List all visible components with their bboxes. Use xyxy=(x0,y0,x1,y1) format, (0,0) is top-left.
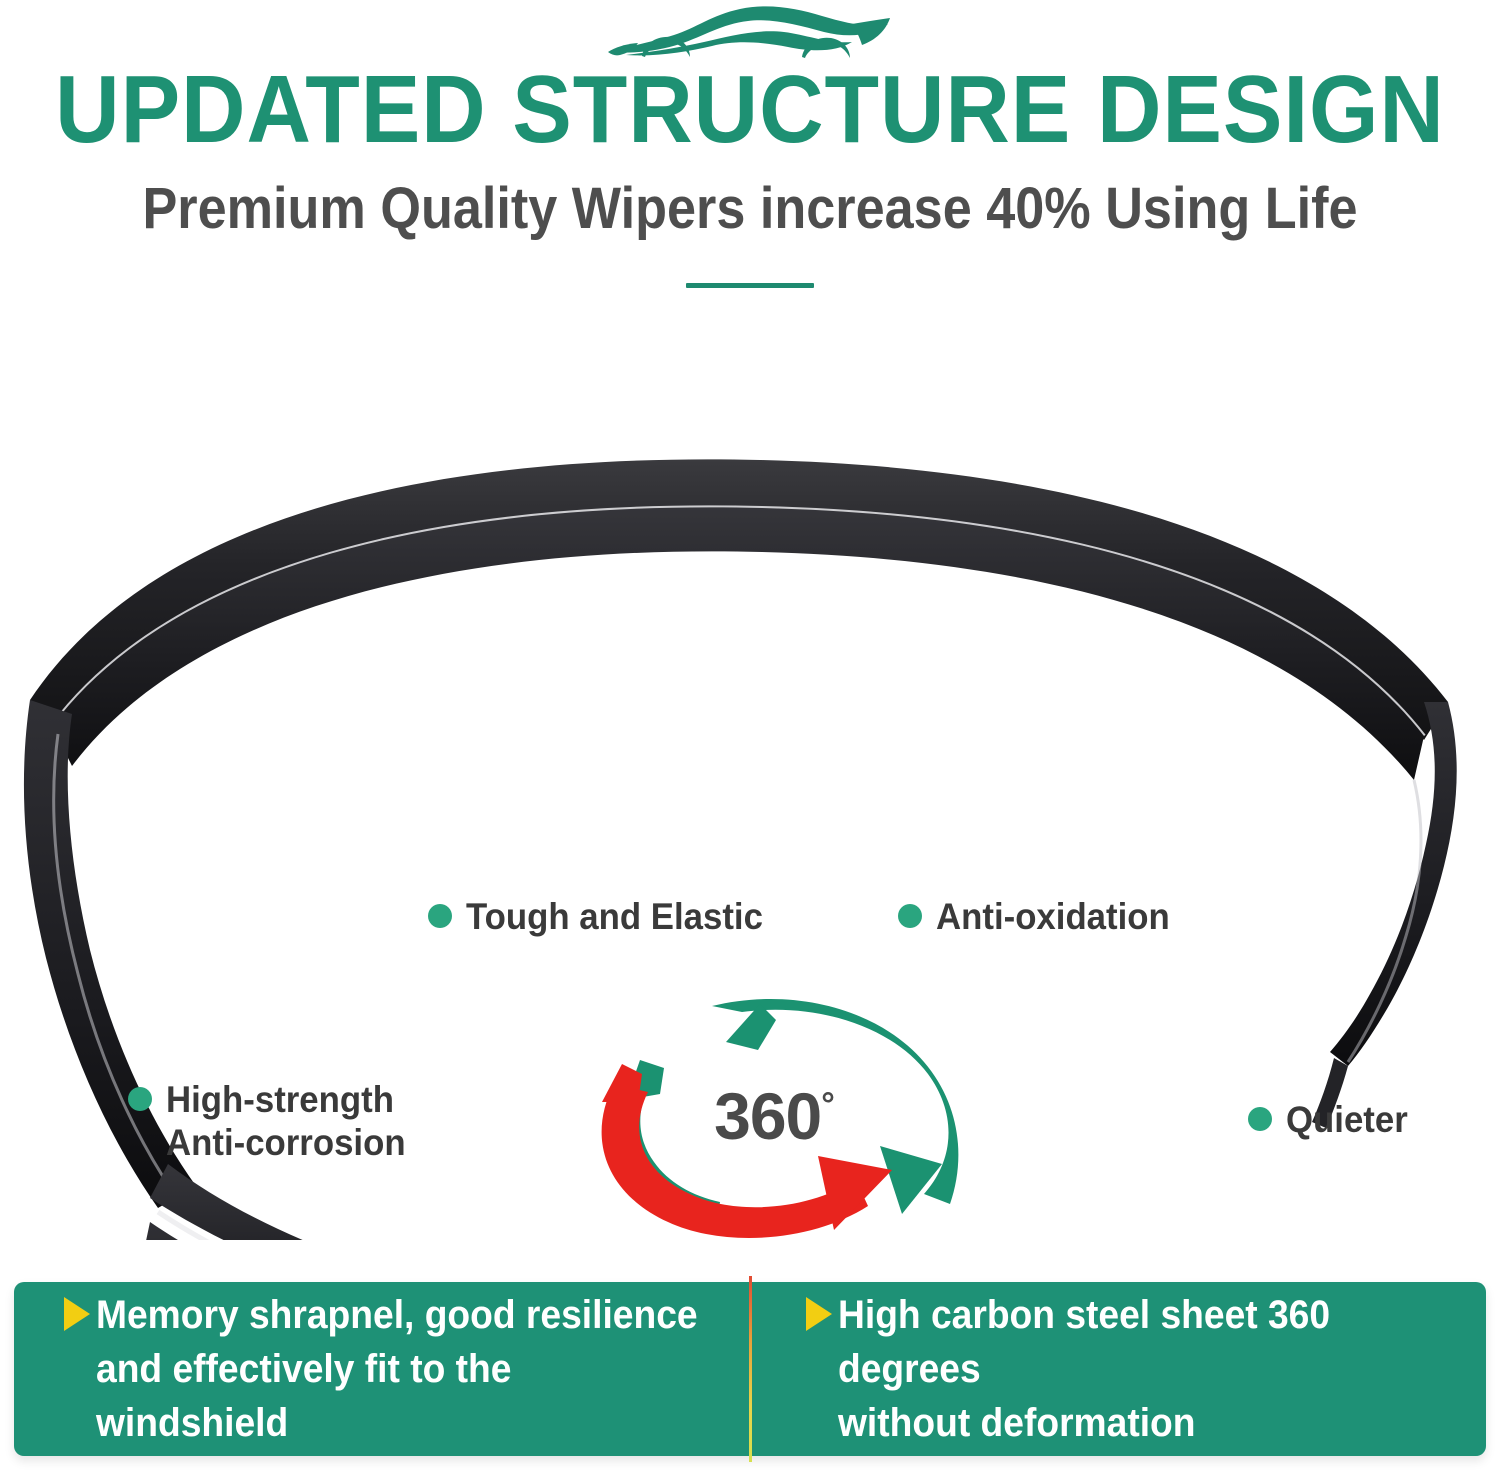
triangle-bullet-icon xyxy=(806,1297,832,1331)
triangle-bullet-icon xyxy=(64,1297,90,1331)
bullet-dot-icon xyxy=(428,904,452,928)
callout-label: Tough and Elastic xyxy=(466,895,763,938)
banner-item-memory-shrapnel: Memory shrapnel, good resilience and eff… xyxy=(14,1282,750,1456)
page-title: UPDATED STRUCTURE DESIGN xyxy=(53,62,1448,158)
bottom-feature-banner: Memory shrapnel, good resilience and eff… xyxy=(14,1282,1486,1456)
bullet-dot-icon xyxy=(898,904,922,928)
car-silhouette-logo-icon xyxy=(600,2,900,64)
banner-text: High carbon steel sheet 360 degrees with… xyxy=(838,1288,1441,1450)
page-subtitle: Premium Quality Wipers increase 40% Usin… xyxy=(75,178,1425,240)
callout-high-strength-anti-corrosion: High-strength Anti-corrosion xyxy=(128,1078,421,1164)
hero-section: 360° Tough and Elastic Anti-oxidation Hi… xyxy=(0,310,1500,1240)
badge-360-label: 360° xyxy=(580,1072,968,1149)
callout-label: Anti-oxidation xyxy=(936,895,1170,938)
title-divider-rule xyxy=(686,283,814,288)
callout-label: High-strength Anti-corrosion xyxy=(166,1078,406,1164)
callout-tough-and-elastic: Tough and Elastic xyxy=(428,895,782,938)
banner-text: Memory shrapnel, good resilience and eff… xyxy=(96,1288,704,1450)
callout-label: Quieter xyxy=(1286,1098,1408,1141)
callout-quieter: Quieter xyxy=(1248,1098,1416,1141)
header-section: UPDATED STRUCTURE DESIGN Premium Quality… xyxy=(0,0,1500,310)
banner-item-high-carbon-steel: High carbon steel sheet 360 degrees with… xyxy=(750,1282,1486,1456)
bullet-dot-icon xyxy=(1248,1107,1272,1131)
callout-anti-oxidation: Anti-oxidation xyxy=(898,895,1185,938)
bullet-dot-icon xyxy=(128,1087,152,1111)
badge-360-value: 360 xyxy=(714,1079,821,1153)
badge-degree-symbol: ° xyxy=(821,1086,834,1124)
